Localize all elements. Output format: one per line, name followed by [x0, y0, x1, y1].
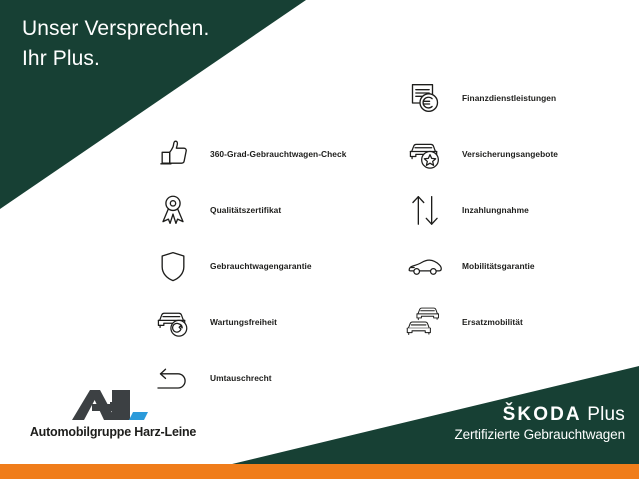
ah-logo-mark	[70, 388, 156, 422]
car-star-icon	[402, 131, 448, 177]
shield-icon	[150, 243, 196, 289]
brand-logo: ŠKODA Plus Zertifizierte Gebrauchtwagen	[454, 404, 625, 443]
feature-label: Qualitätszertifikat	[210, 205, 281, 215]
feature-label: Mobilitätsgarantie	[462, 261, 535, 271]
feature-list-right: Finanzdienstleistungen Versicherungsange…	[402, 72, 558, 352]
brand-logo-title: ŠKODA Plus	[454, 404, 625, 426]
brand-plus: Plus	[582, 404, 625, 425]
feature-item: Mobilitätsgarantie	[402, 240, 558, 292]
feature-item: Versicherungsangebote	[402, 128, 558, 180]
feature-item: Gebrauchtwagengarantie	[150, 240, 346, 292]
bottom-orange-bar	[0, 464, 639, 479]
headline-line-2: Ihr Plus.	[22, 44, 209, 74]
feature-item: Inzahlungnahme	[402, 184, 558, 236]
document-euro-icon	[402, 75, 448, 121]
feature-item: 360-Grad-Gebrauchtwagen-Check	[150, 128, 346, 180]
car-side-icon	[402, 243, 448, 289]
feature-item: Ersatzmobilität	[402, 296, 558, 348]
dealer-logo: Automobilgruppe Harz-Leine	[18, 388, 208, 439]
feature-label: Wartungsfreiheit	[210, 317, 277, 327]
headline-line-1: Unser Versprechen.	[22, 17, 209, 40]
feature-label: 360-Grad-Gebrauchtwagen-Check	[210, 149, 346, 159]
headline: Unser Versprechen. Ihr Plus.	[22, 14, 209, 74]
feature-label: Ersatzmobilität	[462, 317, 523, 327]
feature-label: Versicherungsangebote	[462, 149, 558, 159]
dealer-name: Automobilgruppe Harz-Leine	[18, 425, 208, 439]
award-rosette-icon	[150, 187, 196, 233]
two-cars-icon	[402, 299, 448, 345]
feature-label: Inzahlungnahme	[462, 205, 529, 215]
feature-label: Finanzdienstleistungen	[462, 93, 556, 103]
thumbs-up-icon	[150, 131, 196, 177]
feature-item: Finanzdienstleistungen	[402, 72, 558, 124]
feature-list-left: 360-Grad-Gebrauchtwagen-Check Qualitätsz…	[150, 128, 346, 408]
feature-label: Umtauschrecht	[210, 373, 272, 383]
promo-banner: Unser Versprechen. Ihr Plus. 360-Grad-Ge…	[0, 0, 639, 479]
car-wrench-icon	[150, 299, 196, 345]
brand-subtitle: Zertifizierte Gebrauchtwagen	[454, 426, 625, 443]
feature-item: Qualitätszertifikat	[150, 184, 346, 236]
brand-word: ŠKODA	[503, 404, 582, 425]
up-down-arrows-icon	[402, 187, 448, 233]
feature-label: Gebrauchtwagengarantie	[210, 261, 312, 271]
feature-item: Wartungsfreiheit	[150, 296, 346, 348]
